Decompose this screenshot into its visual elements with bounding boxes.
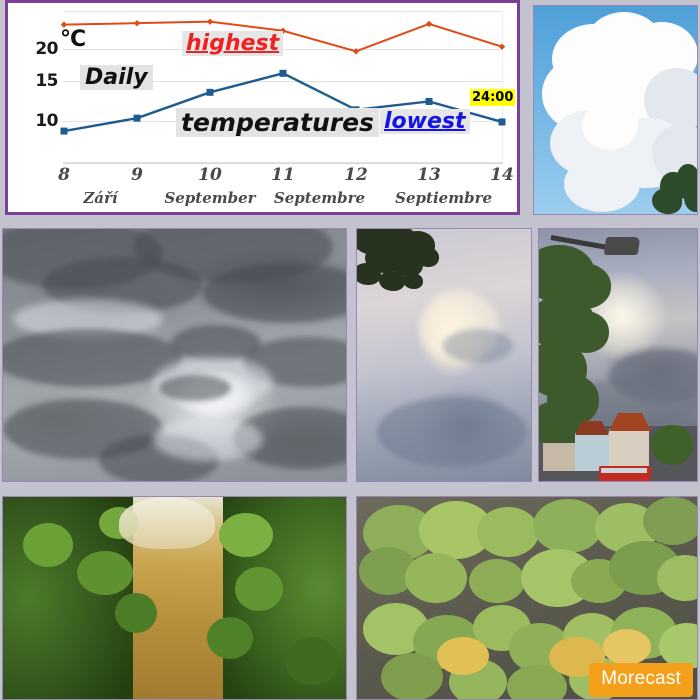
- y-tick-15: 15: [35, 71, 58, 91]
- photo-lily-pond: Morecast: [356, 496, 698, 700]
- time-badge: 24:00: [470, 89, 515, 106]
- x-tick-12: 12: [344, 165, 368, 185]
- weather-photo-collage: 20 15 10 °C 891011121314 ZáříSeptemberSe: [0, 0, 700, 700]
- x-tick-14: 14: [490, 165, 514, 185]
- y-axis-labels: 20 15 10: [18, 11, 58, 163]
- x-tick-10: 10: [198, 165, 222, 185]
- month-labels: ZáříSeptemberSeptembreSeptiembre: [63, 189, 503, 213]
- marker-lowest-11: [280, 70, 287, 77]
- x-tick-11: 11: [271, 165, 295, 185]
- marker-lowest-14: [499, 118, 506, 125]
- photo-cumulus-cloud: [533, 5, 698, 215]
- y-tick-20: 20: [35, 39, 58, 59]
- x-axis-line: [63, 163, 503, 164]
- month-label-1: September: [164, 189, 255, 207]
- month-label-3: Septiembre: [395, 189, 492, 207]
- temperature-chart-panel: 20 15 10 °C 891011121314 ZáříSeptemberSe: [5, 0, 520, 215]
- marker-highest-10: [207, 18, 213, 24]
- marker-lowest-9: [134, 115, 141, 122]
- annotation-lowest: lowest: [380, 109, 470, 134]
- annotation-temperatures: temperatures: [176, 108, 379, 137]
- marker-highest-13: [426, 21, 432, 27]
- photo-storm-clouds: [2, 228, 347, 482]
- x-axis-ticks: 891011121314: [63, 165, 503, 189]
- x-tick-8: 8: [58, 165, 70, 185]
- month-label-2: Septembre: [274, 189, 365, 207]
- x-tick-13: 13: [417, 165, 441, 185]
- house-beige: [609, 429, 649, 471]
- marker-lowest-13: [426, 98, 433, 105]
- morecast-watermark: Morecast: [589, 663, 693, 697]
- x-tick-9: 9: [131, 165, 143, 185]
- photo-creek: [2, 496, 347, 700]
- marker-highest-9: [134, 20, 140, 26]
- top-row: 20 15 10 °C 891011121314 ZáříSeptemberSe: [0, 0, 700, 222]
- marker-lowest-8: [61, 128, 68, 135]
- y-tick-10: 10: [35, 111, 58, 131]
- month-label-0: Září: [83, 189, 117, 207]
- annotation-highest: highest: [182, 31, 283, 56]
- marker-lowest-10: [207, 89, 214, 96]
- annotation-daily: Daily: [80, 65, 153, 90]
- marker-highest-14: [499, 44, 505, 50]
- photo-sunlit-cloud: [356, 228, 532, 482]
- photo-street-storm: [538, 228, 698, 482]
- marker-highest-12: [353, 48, 359, 54]
- street-lamp-icon: [604, 237, 641, 255]
